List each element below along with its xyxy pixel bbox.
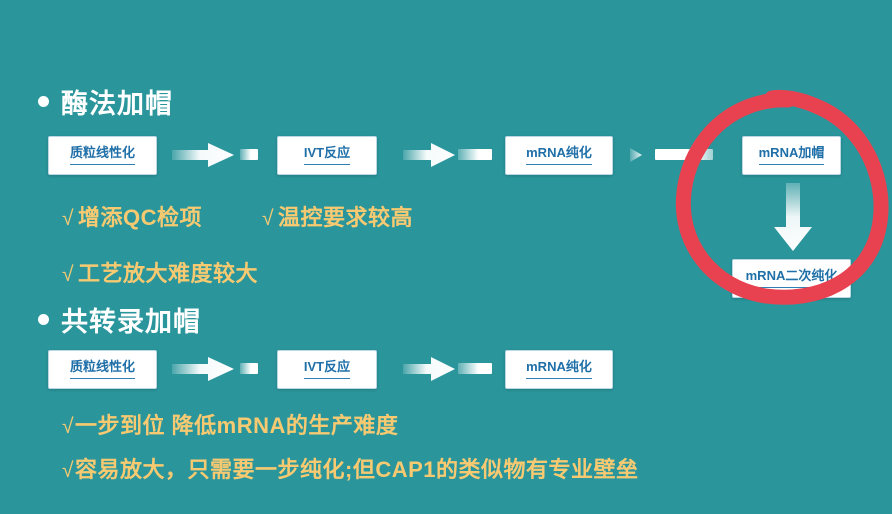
process-box-ivt-reaction-2[interactable]: IVT反应: [277, 350, 377, 389]
note-label: 容易放大，只需要一步纯化;但CAP1的类似物有专业壁垒: [75, 452, 639, 484]
note-label: 温控要求较高: [278, 200, 413, 232]
process-box-label: 质粒线性化: [70, 360, 135, 379]
note-easy-scale-up: √ 容易放大，只需要一步纯化;但CAP1的类似物有专业壁垒: [62, 452, 639, 484]
process-box-mrna-second-purification[interactable]: mRNA二次纯化: [732, 259, 851, 298]
check-mark-icon: √: [62, 263, 74, 287]
process-box-plasmid-linearization-2[interactable]: 质粒线性化: [48, 350, 157, 389]
check-mark-icon: √: [62, 207, 74, 231]
note-label: 工艺放大难度较大: [78, 256, 258, 288]
note-label: 增添QC检项: [78, 200, 202, 232]
note-label: 一步到位 降低mRNA的生产难度: [75, 408, 398, 440]
arrow-right-icon: [172, 142, 234, 168]
section-heading-enzymatic: 酶法加帽: [38, 82, 173, 121]
arrow-down-icon: [772, 183, 814, 251]
process-box-label: mRNA二次纯化: [746, 269, 838, 288]
arrow-dash-icon: [240, 363, 258, 374]
section-heading-cotranscriptional: 共转录加帽: [38, 300, 201, 339]
arrow-dash-icon: [240, 149, 258, 160]
note-qc-inspection: √ 增添QC检项: [62, 200, 202, 232]
arrow-dash-icon: [458, 149, 492, 160]
process-box-label: mRNA纯化: [526, 360, 592, 379]
arrow-right-icon: [403, 356, 455, 382]
check-mark-icon: √: [262, 207, 274, 231]
check-mark-icon: √: [62, 415, 74, 439]
process-box-label: mRNA纯化: [526, 146, 592, 165]
arrow-dash-icon: [458, 363, 492, 374]
section-heading-label: 共转录加帽: [61, 300, 201, 339]
process-box-label: IVT反应: [304, 146, 350, 165]
arrow-right-icon: [172, 356, 234, 382]
bullet-dot-icon: [38, 96, 49, 107]
slide-canvas: 酶法加帽 质粒线性化 IVT反应: [0, 0, 892, 514]
arrow-dash-icon: [655, 149, 713, 160]
arrow-right-icon: [403, 142, 455, 168]
process-box-ivt-reaction-1[interactable]: IVT反应: [277, 136, 377, 175]
process-box-plasmid-linearization-1[interactable]: 质粒线性化: [48, 136, 157, 175]
process-box-label: 质粒线性化: [70, 146, 135, 165]
process-box-mrna-purification-1[interactable]: mRNA纯化: [505, 136, 613, 175]
process-box-label: mRNA加帽: [759, 146, 825, 165]
process-box-mrna-purification-2[interactable]: mRNA纯化: [505, 350, 613, 389]
note-scale-up-difficulty: √ 工艺放大难度较大: [62, 256, 258, 288]
section-heading-label: 酶法加帽: [61, 82, 173, 121]
arrow-right-icon: [630, 144, 652, 170]
process-box-label: IVT反应: [304, 360, 350, 379]
bullet-dot-icon: [38, 314, 49, 325]
note-temperature-control: √ 温控要求较高: [262, 200, 413, 232]
note-one-step-production: √ 一步到位 降低mRNA的生产难度: [62, 408, 398, 440]
process-box-mrna-capping[interactable]: mRNA加帽: [742, 136, 841, 175]
check-mark-icon: √: [62, 459, 74, 483]
